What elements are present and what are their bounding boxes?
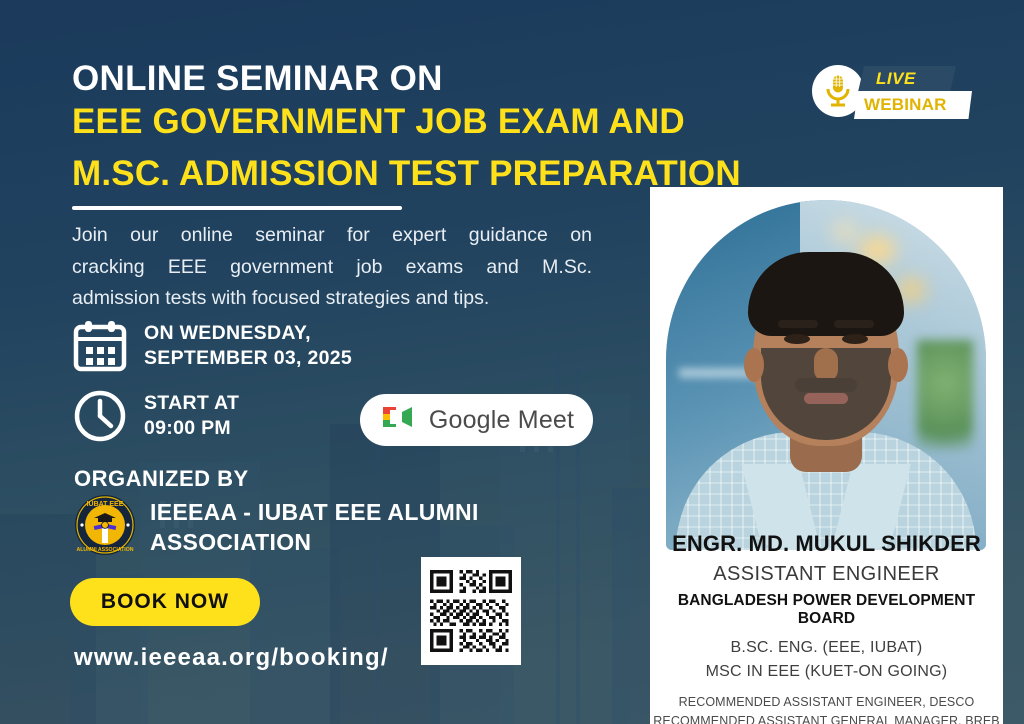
poster-headline: ONLINE SEMINAR ON EEE GOVERNMENT JOB EXA… (72, 58, 772, 198)
organizer-name-line-1: IEEEAA - IUBAT EEE ALUMNI (150, 498, 479, 527)
seminar-description: Join our online seminar for expert guida… (72, 220, 592, 315)
speaker-education-2: MSC IN EEE (KUET-ON GOING) (650, 660, 1003, 684)
headline-line-2: EEE GOVERNMENT JOB EXAM AND (72, 99, 772, 145)
seminar-poster: ONLINE SEMINAR ON EEE GOVERNMENT JOB EXA… (0, 0, 1024, 724)
description-line-2: cracking EEE government job exams and M.… (72, 252, 592, 284)
webinar-label: WEBINAR (864, 95, 947, 115)
google-meet-icon (379, 403, 417, 438)
date-info-row: ON WEDNESDAY, SEPTEMBER 03, 2025 (72, 318, 352, 374)
speaker-extra-2: RECOMMENDED ASSISTANT GENERAL MANAGER, B… (650, 712, 1003, 724)
webinar-ribbon: WEBINAR (854, 91, 972, 119)
organizer-name: IEEEAA - IUBAT EEE ALUMNI ASSOCIATION (150, 498, 479, 557)
qr-code-icon[interactable] (421, 557, 521, 665)
clock-icon (72, 388, 132, 444)
organizer-row: IUBAT EEE ALUMNI ASSOCIATION IEEEAA - IU… (74, 494, 479, 561)
speaker-organization: BANGLADESH POWER DEVELOPMENT BOARD (650, 592, 1003, 628)
time-line-2: 09:00 PM (144, 416, 239, 441)
speaker-role: ASSISTANT ENGINEER (650, 563, 1003, 586)
time-text: START AT 09:00 PM (144, 391, 239, 440)
book-now-button[interactable]: BOOK NOW (70, 578, 260, 626)
date-line-1: ON WEDNESDAY, (144, 321, 352, 346)
date-text: ON WEDNESDAY, SEPTEMBER 03, 2025 (144, 321, 352, 370)
svg-text:ALUMNI ASSOCIATION: ALUMNI ASSOCIATION (76, 547, 133, 553)
portrait-person (666, 200, 986, 550)
google-meet-badge[interactable]: Google Meet (360, 394, 593, 446)
headline-line-1: ONLINE SEMINAR ON (72, 58, 772, 99)
headline-divider (72, 206, 402, 210)
organizer-name-line-2: ASSOCIATION (150, 528, 479, 557)
description-line-1: Join our online seminar for expert guida… (72, 220, 592, 252)
iubat-eee-alumni-association-logo: IUBAT EEE ALUMNI ASSOCIATION (74, 494, 136, 561)
speaker-details: ENGR. MD. MUKUL SHIKDER ASSISTANT ENGINE… (650, 531, 1003, 724)
speaker-education-1: B.SC. ENG. (EEE, IUBAT) (650, 636, 1003, 660)
live-ribbon: LIVE (858, 66, 956, 92)
speaker-portrait-frame (656, 190, 996, 550)
speaker-extra-1: RECOMMENDED ASSISTANT ENGINEER, DESCO (650, 693, 1003, 712)
speaker-name: ENGR. MD. MUKUL SHIKDER (650, 531, 1003, 557)
date-line-2: SEPTEMBER 03, 2025 (144, 346, 352, 371)
calendar-icon (72, 318, 132, 374)
organized-by-label: ORGANIZED BY (74, 466, 249, 492)
booking-url[interactable]: www.ieeeaa.org/booking/ (74, 644, 389, 672)
live-label: LIVE (876, 69, 916, 89)
description-line-3: admission tests with focused strategies … (72, 283, 592, 315)
time-line-1: START AT (144, 391, 239, 416)
time-info-row: START AT 09:00 PM (72, 388, 239, 444)
live-webinar-badge: LIVE WEBINAR (812, 62, 972, 124)
speaker-portrait (666, 200, 986, 550)
google-meet-label: Google Meet (429, 406, 574, 435)
